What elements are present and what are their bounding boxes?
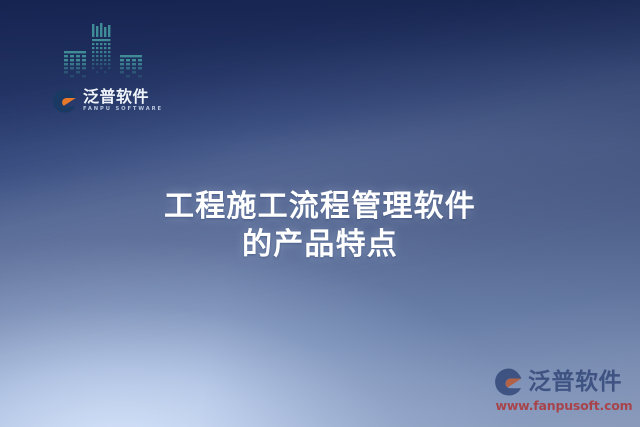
brand-words: 泛普软件 FANPU SOFTWARE [83,89,163,112]
watermark-brand-row: 泛普软件 [494,367,634,397]
fanpu-swoosh-logo-icon [494,367,524,397]
city-skyline-icon [58,22,158,88]
slide-title: 工程施工流程管理软件 的产品特点 [0,188,640,264]
fanpu-swoosh-logo-icon [52,88,78,114]
presentation-slide: 泛普软件 FANPU SOFTWARE 工程施工流程管理软件 的产品特点 泛普软… [0,0,640,427]
header-brand-block: 泛普软件 FANPU SOFTWARE [52,22,172,122]
watermark: 泛普软件 www.fanpusoft.com [494,367,634,413]
slide-title-line-1: 工程施工流程管理软件 [0,188,640,226]
brand-name-en: FANPU SOFTWARE [83,107,163,112]
slide-title-line-2: 的产品特点 [0,226,640,264]
brand-name-cn: 泛普软件 [83,89,163,105]
watermark-url: www.fanpusoft.com [494,398,634,413]
watermark-name-cn: 泛普软件 [528,371,622,394]
brand-lockup: 泛普软件 FANPU SOFTWARE [52,88,163,114]
